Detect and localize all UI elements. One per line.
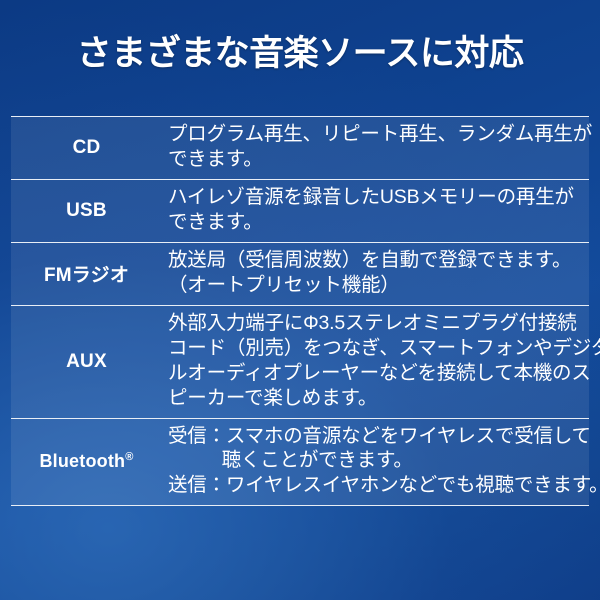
headline-container: さまざまな音楽ソースに対応 <box>0 0 600 108</box>
source-label-aux-text: AUX <box>66 351 107 372</box>
description-line: ピーカーで楽しめます。 <box>168 386 587 411</box>
description-line: （オートプリセット機能） <box>168 273 587 298</box>
source-label-cd-text: CD <box>73 137 101 158</box>
table-row-usb: USB ハイレゾ音源を録音したUSBメモリーの再生が できます。 <box>11 179 589 242</box>
table-row-bluetooth: Bluetooth® 受信：スマホの音源などをワイヤレスで受信して 聴くことがで… <box>11 418 589 506</box>
music-source-table: CD プログラム再生、リピート再生、ランダム再生が できます。 USB ハイレゾ… <box>11 116 589 506</box>
source-label-fm-radio-text: FMラジオ <box>44 265 129 286</box>
source-label-fm-radio: FMラジオ <box>11 242 162 305</box>
source-description-cd: プログラム再生、リピート再生、ランダム再生が できます。 <box>162 117 589 180</box>
description-line: ルオーディオプレーヤーなどを接続して本機のス <box>168 361 587 386</box>
table-row-aux: AUX 外部入力端子にΦ3.5ステレオミニプラグ付接続 コード（別売）をつなぎ、… <box>11 305 589 418</box>
source-label-aux: AUX <box>11 305 162 418</box>
description-line: 聴くことができます。 <box>168 448 587 473</box>
registered-trademark-icon: ® <box>125 451 133 463</box>
source-label-bluetooth: Bluetooth® <box>11 418 162 506</box>
description-line: プログラム再生、リピート再生、ランダム再生が <box>168 122 587 147</box>
table-row-fm-radio: FMラジオ 放送局（受信周波数）を自動で登録できます。 （オートプリセット機能） <box>11 242 589 305</box>
description-line: 放送局（受信周波数）を自動で登録できます。 <box>168 248 587 273</box>
source-description-usb: ハイレゾ音源を録音したUSBメモリーの再生が できます。 <box>162 179 589 242</box>
table-row-cd: CD プログラム再生、リピート再生、ランダム再生が できます。 <box>11 117 589 180</box>
source-description-aux: 外部入力端子にΦ3.5ステレオミニプラグ付接続 コード（別売）をつなぎ、スマート… <box>162 305 589 418</box>
source-label-bluetooth-text: Bluetooth <box>39 451 125 471</box>
source-label-usb: USB <box>11 179 162 242</box>
page-title: さまざまな音楽ソースに対応 <box>77 35 524 74</box>
description-line: できます。 <box>168 147 587 172</box>
source-description-bluetooth: 受信：スマホの音源などをワイヤレスで受信して 聴くことができます。 送信：ワイヤ… <box>162 418 589 506</box>
source-description-fm-radio: 放送局（受信周波数）を自動で登録できます。 （オートプリセット機能） <box>162 242 589 305</box>
table-body: CD プログラム再生、リピート再生、ランダム再生が できます。 USB ハイレゾ… <box>11 117 589 506</box>
description-line: コード（別売）をつなぎ、スマートフォンやデジタ <box>168 336 587 361</box>
source-label-usb-text: USB <box>66 200 107 221</box>
description-line: ハイレゾ音源を録音したUSBメモリーの再生が <box>168 185 587 210</box>
poster-root: さまざまな音楽ソースに対応 CD プログラム再生、リピート再生、ランダム再生が … <box>0 0 600 600</box>
description-line: 外部入力端子にΦ3.5ステレオミニプラグ付接続 <box>168 311 587 336</box>
description-line: 送信：ワイヤレスイヤホンなどでも視聴できます。 <box>168 473 587 498</box>
description-line: できます。 <box>168 210 587 235</box>
source-label-cd: CD <box>11 117 162 180</box>
description-line: 受信：スマホの音源などをワイヤレスで受信して <box>168 424 587 449</box>
